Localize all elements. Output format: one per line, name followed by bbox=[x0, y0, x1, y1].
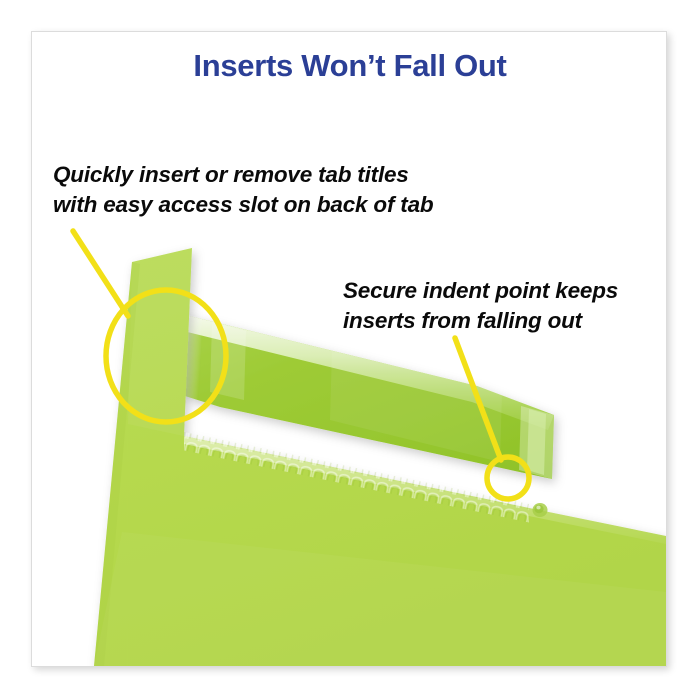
callout-caption-easy-access-slot: Quickly insert or remove tab titles with… bbox=[53, 160, 433, 220]
photo-frame bbox=[31, 31, 667, 667]
secure-indent-point bbox=[533, 503, 548, 517]
callout-caption-line-2: with easy access slot on back of tab bbox=[53, 190, 433, 220]
product-photograph bbox=[32, 32, 666, 666]
page-title: Inserts Won’t Fall Out bbox=[0, 48, 700, 84]
callout-caption-line-2: inserts from falling out bbox=[343, 306, 618, 336]
callout-caption-secure-indent-point: Secure indent point keeps inserts from f… bbox=[343, 276, 618, 336]
callout-caption-line-1: Secure indent point keeps bbox=[343, 276, 618, 306]
product-illustration bbox=[32, 32, 666, 666]
product-feature-callout-image: Inserts Won’t Fall Out Quickly insert or… bbox=[0, 0, 700, 700]
callout-caption-line-1: Quickly insert or remove tab titles bbox=[53, 160, 433, 190]
